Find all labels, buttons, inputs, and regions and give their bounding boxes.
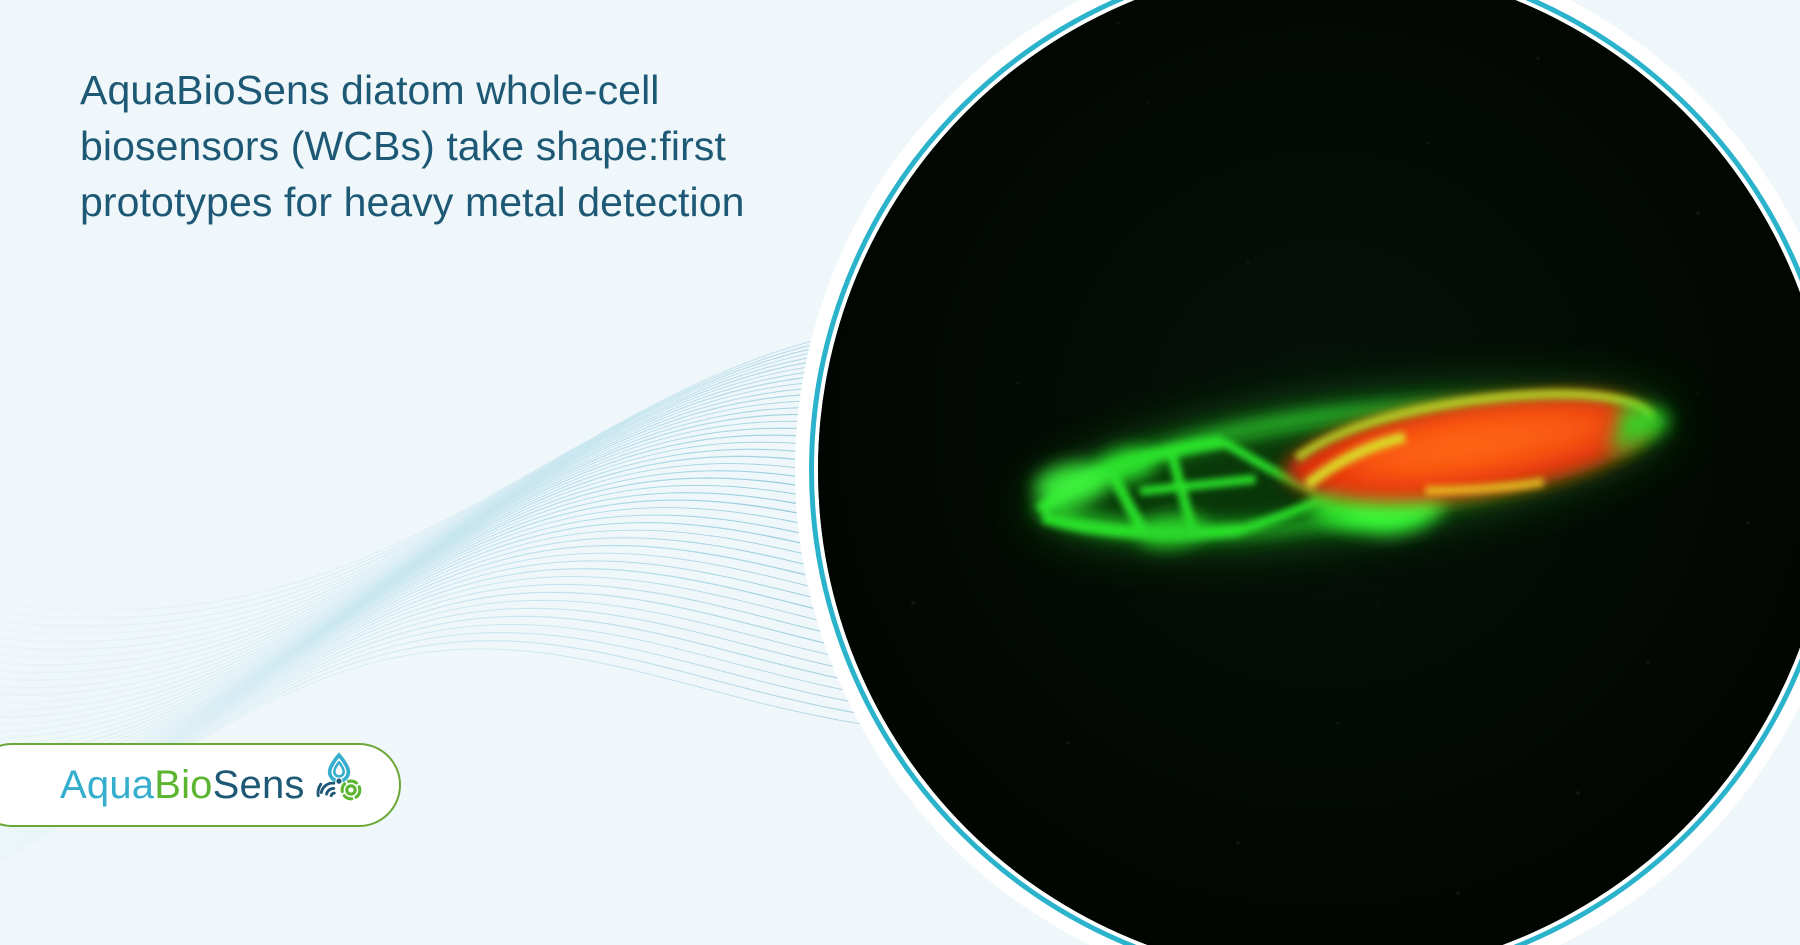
micrograph-panel bbox=[795, 0, 1800, 945]
slide-canvas: AquaBioSens diatom whole-cell biosensors… bbox=[0, 0, 1800, 945]
page-title: AquaBioSens diatom whole-cell biosensors… bbox=[80, 62, 780, 230]
micrograph-white-ring bbox=[795, 0, 1800, 945]
micrograph-accent-ring bbox=[809, 0, 1800, 945]
logo-word-aqua: Aqua bbox=[60, 763, 154, 807]
logo-word-sens: Sens bbox=[213, 763, 305, 807]
logo-word-bio: Bio bbox=[154, 763, 212, 807]
brand-logo-wordmark: AquaBioSens bbox=[60, 763, 305, 808]
micrograph-image bbox=[818, 0, 1800, 945]
droplet-soundwave-sensor-icon bbox=[313, 752, 365, 804]
brand-logo-badge[interactable]: AquaBioSens bbox=[0, 743, 401, 827]
